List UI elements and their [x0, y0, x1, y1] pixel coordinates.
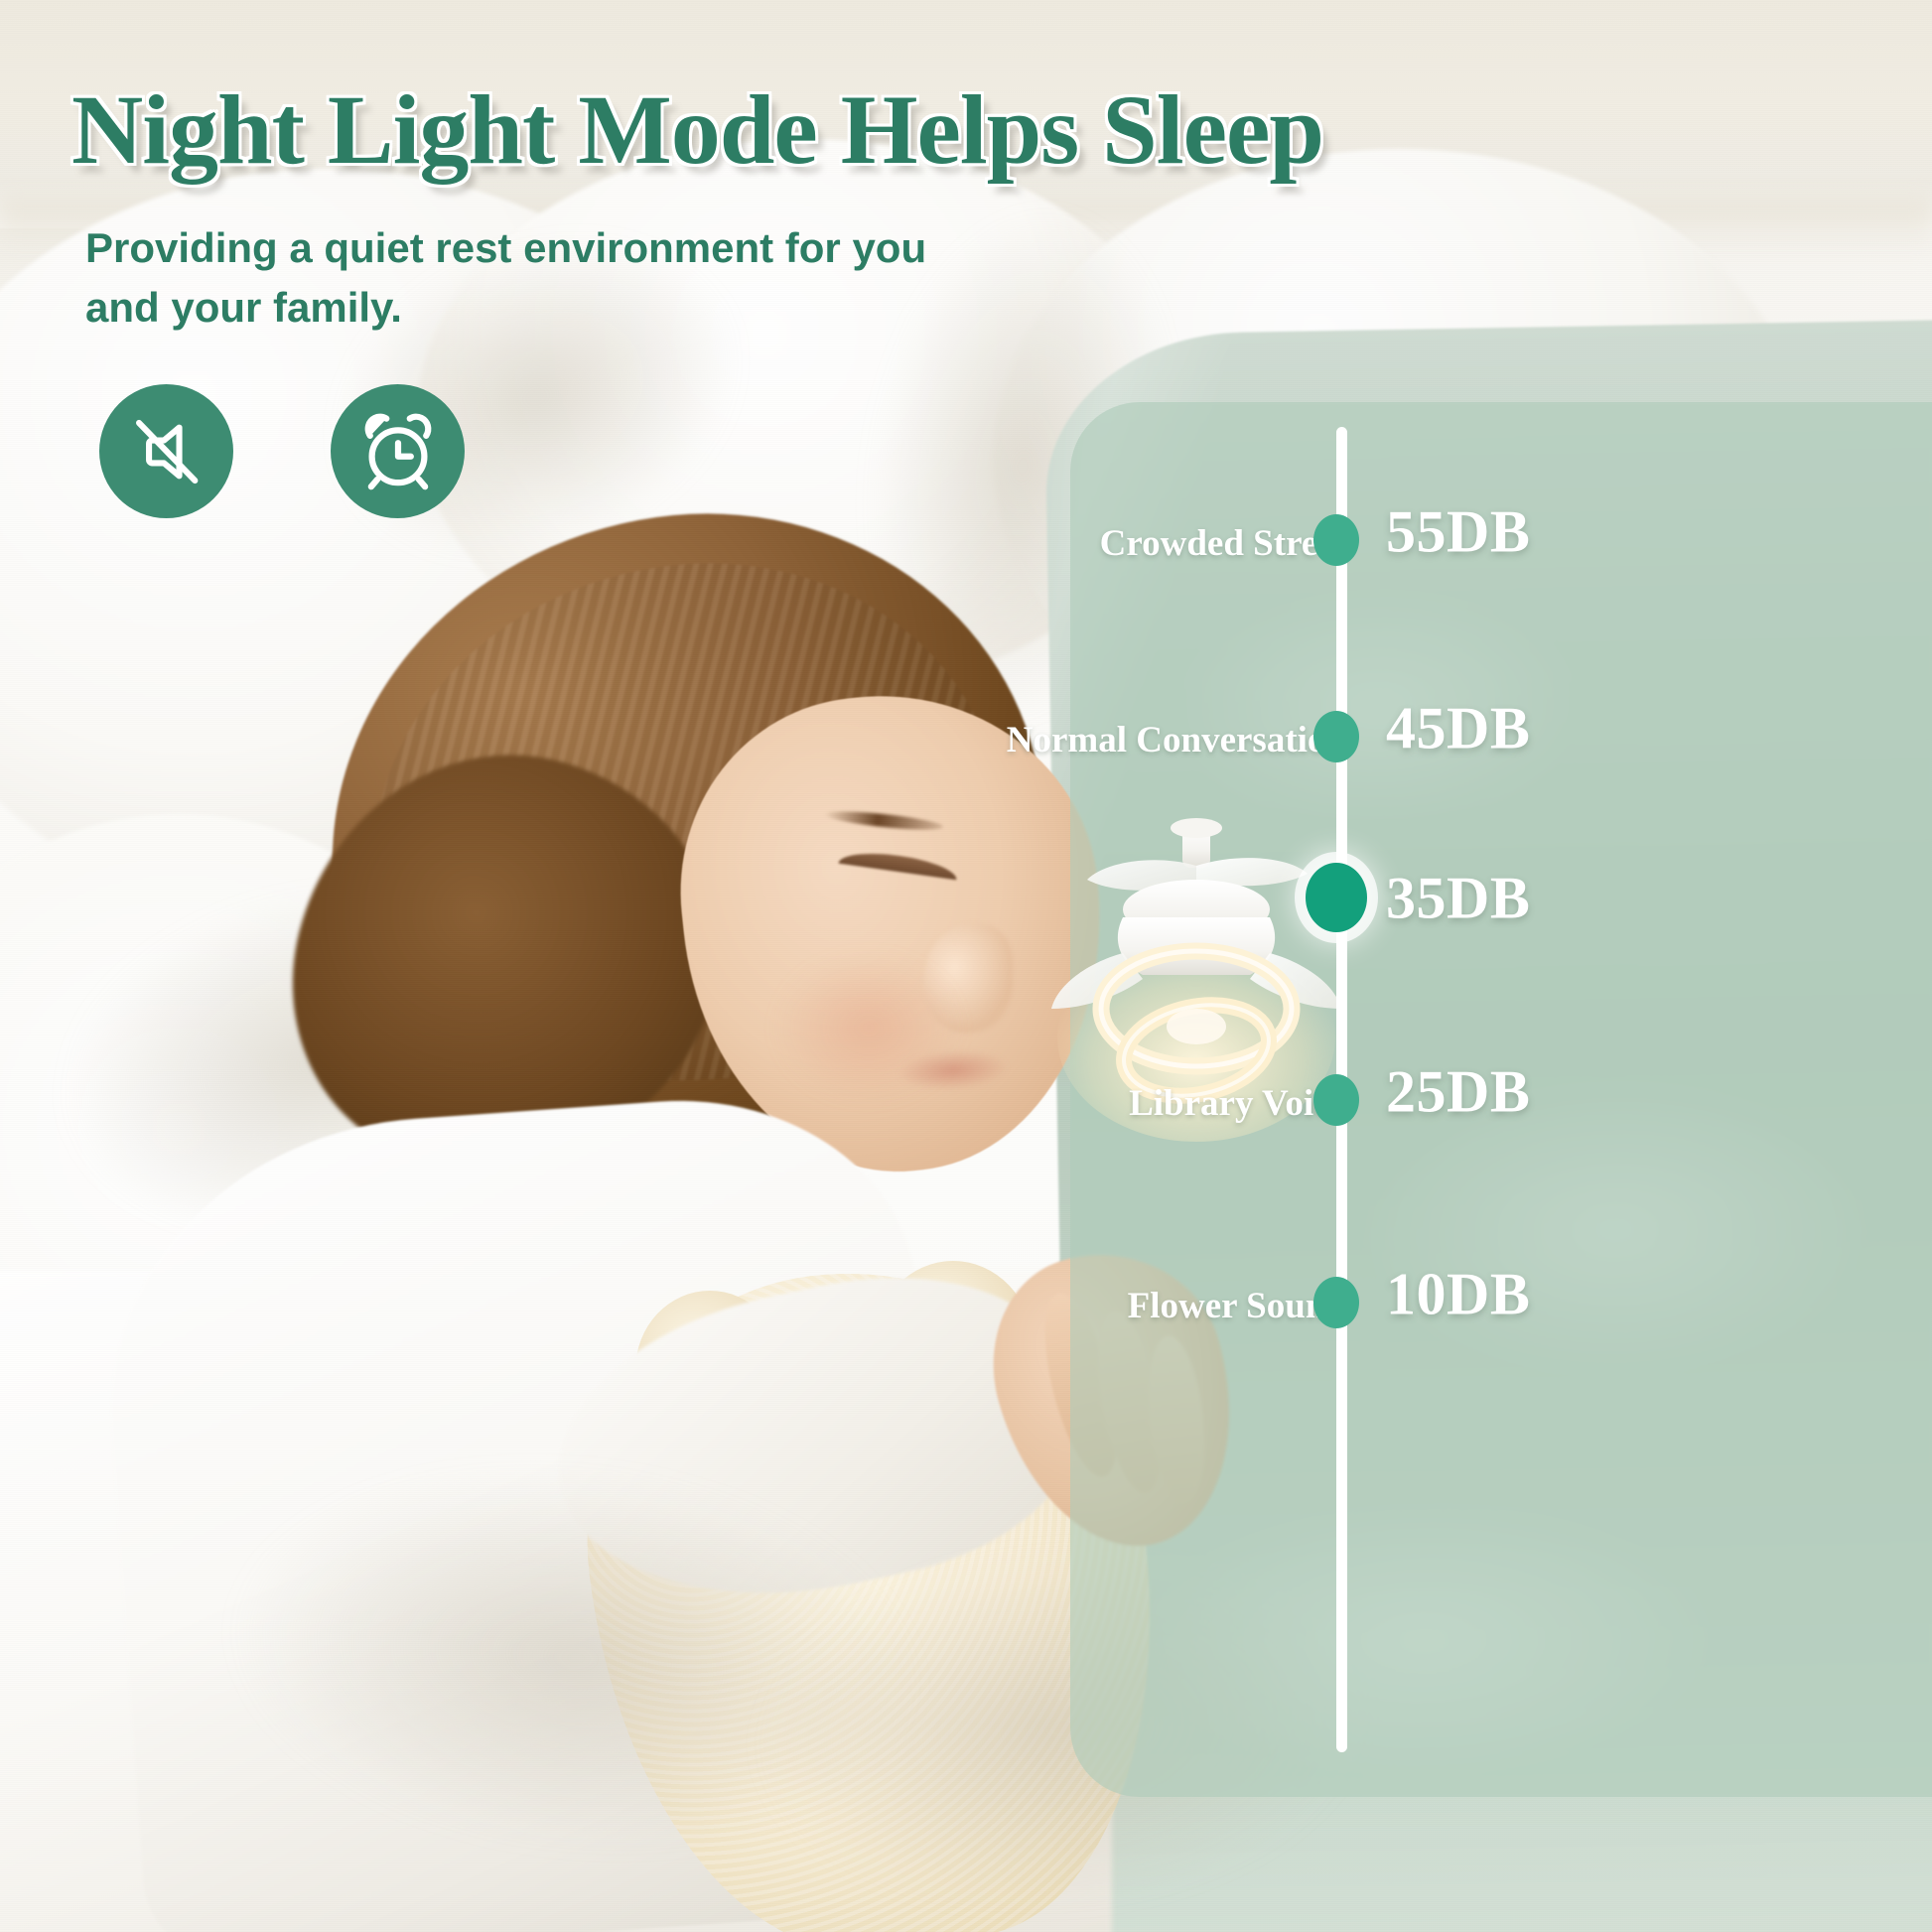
mute-icon-badge [99, 384, 233, 518]
db-dot [1313, 1277, 1359, 1328]
db-label: Library Voice [929, 1082, 1346, 1126]
db-dot-highlighted [1306, 863, 1367, 932]
db-value: 25DB [1386, 1057, 1530, 1126]
db-dot [1313, 514, 1359, 566]
alarm-clock-icon [354, 408, 442, 495]
db-value: 10DB [1386, 1260, 1530, 1328]
db-value: 35DB [1386, 864, 1530, 932]
page-title: Night Light Mode Helps Sleep [71, 77, 1323, 182]
feature-icon-row [99, 384, 465, 518]
mute-icon [124, 409, 209, 494]
db-rows: Crowded Street 55DB Normal Conversation … [1070, 402, 1932, 1797]
db-label: Flower Sound [929, 1285, 1346, 1328]
db-dot [1313, 1074, 1359, 1126]
db-value: 45DB [1386, 694, 1530, 762]
page-subtitle: Providing a quiet rest environment for y… [85, 218, 959, 337]
db-label: Normal Conversation [929, 719, 1346, 762]
alarm-clock-icon-badge [331, 384, 465, 518]
db-label: Crowded Street [929, 522, 1346, 566]
db-value: 55DB [1386, 497, 1530, 566]
db-dot [1313, 711, 1359, 762]
